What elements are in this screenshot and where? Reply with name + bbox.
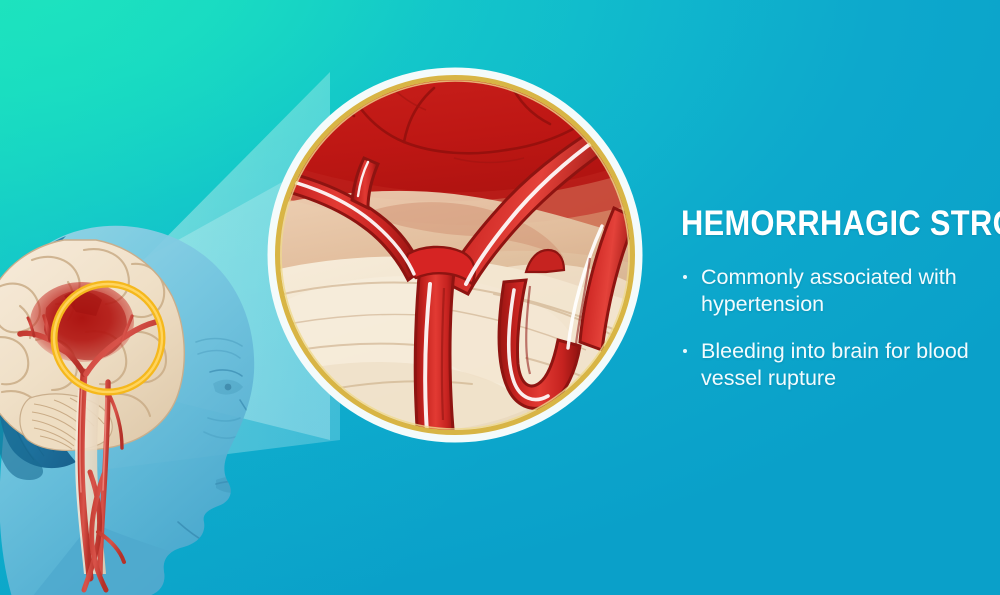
- page-title: HEMORRHAGIC STROKE: [681, 206, 956, 242]
- list-item: Commonly associated with hypertension: [681, 264, 969, 318]
- infographic-canvas: HEMORRHAGIC STROKE Commonly associated w…: [0, 0, 1000, 595]
- bullet-text: Commonly associated with hypertension: [701, 265, 957, 316]
- bullet-dot-icon: [683, 349, 687, 353]
- list-item: Bleeding into brain for blood vessel rup…: [681, 338, 969, 392]
- bullet-dot-icon: [683, 275, 687, 279]
- text-panel: HEMORRHAGIC STROKE Commonly associated w…: [681, 206, 993, 392]
- magnified-brain-hemorrhage-view: [258, 58, 652, 452]
- bullet-text: Bleeding into brain for blood vessel rup…: [701, 339, 969, 390]
- bullet-list: Commonly associated with hypertension Bl…: [681, 264, 993, 392]
- lens-contents: [258, 58, 652, 452]
